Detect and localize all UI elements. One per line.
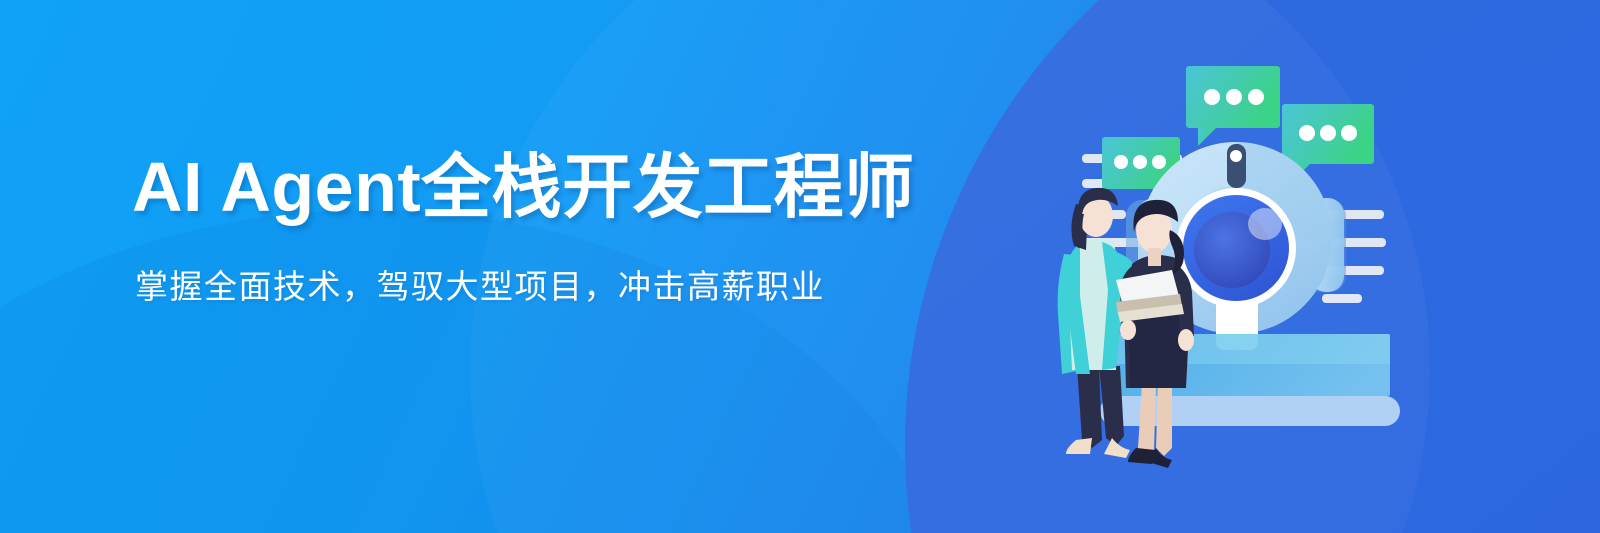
chat-bubble-top (1186, 66, 1280, 146)
chat-bubble-dots (1204, 89, 1264, 105)
promo-banner: AI Agent全栈开发工程师 掌握全面技术，驾驭大型项目，冲击高薪职业 (0, 0, 1600, 533)
robot-antenna-icon (1227, 144, 1246, 188)
hero-illustration (1020, 48, 1450, 488)
banner-headline: AI Agent全栈开发工程师 (132, 150, 915, 226)
robot-eye (1176, 188, 1296, 308)
banner-text-block: AI Agent全栈开发工程师 掌握全面技术，驾驭大型项目，冲击高薪职业 (132, 150, 915, 308)
banner-subheadline: 掌握全面技术，驾驭大型项目，冲击高薪职业 (135, 260, 915, 308)
chat-bubble-dots (1299, 125, 1357, 141)
chat-bubble-dots (1114, 155, 1166, 169)
